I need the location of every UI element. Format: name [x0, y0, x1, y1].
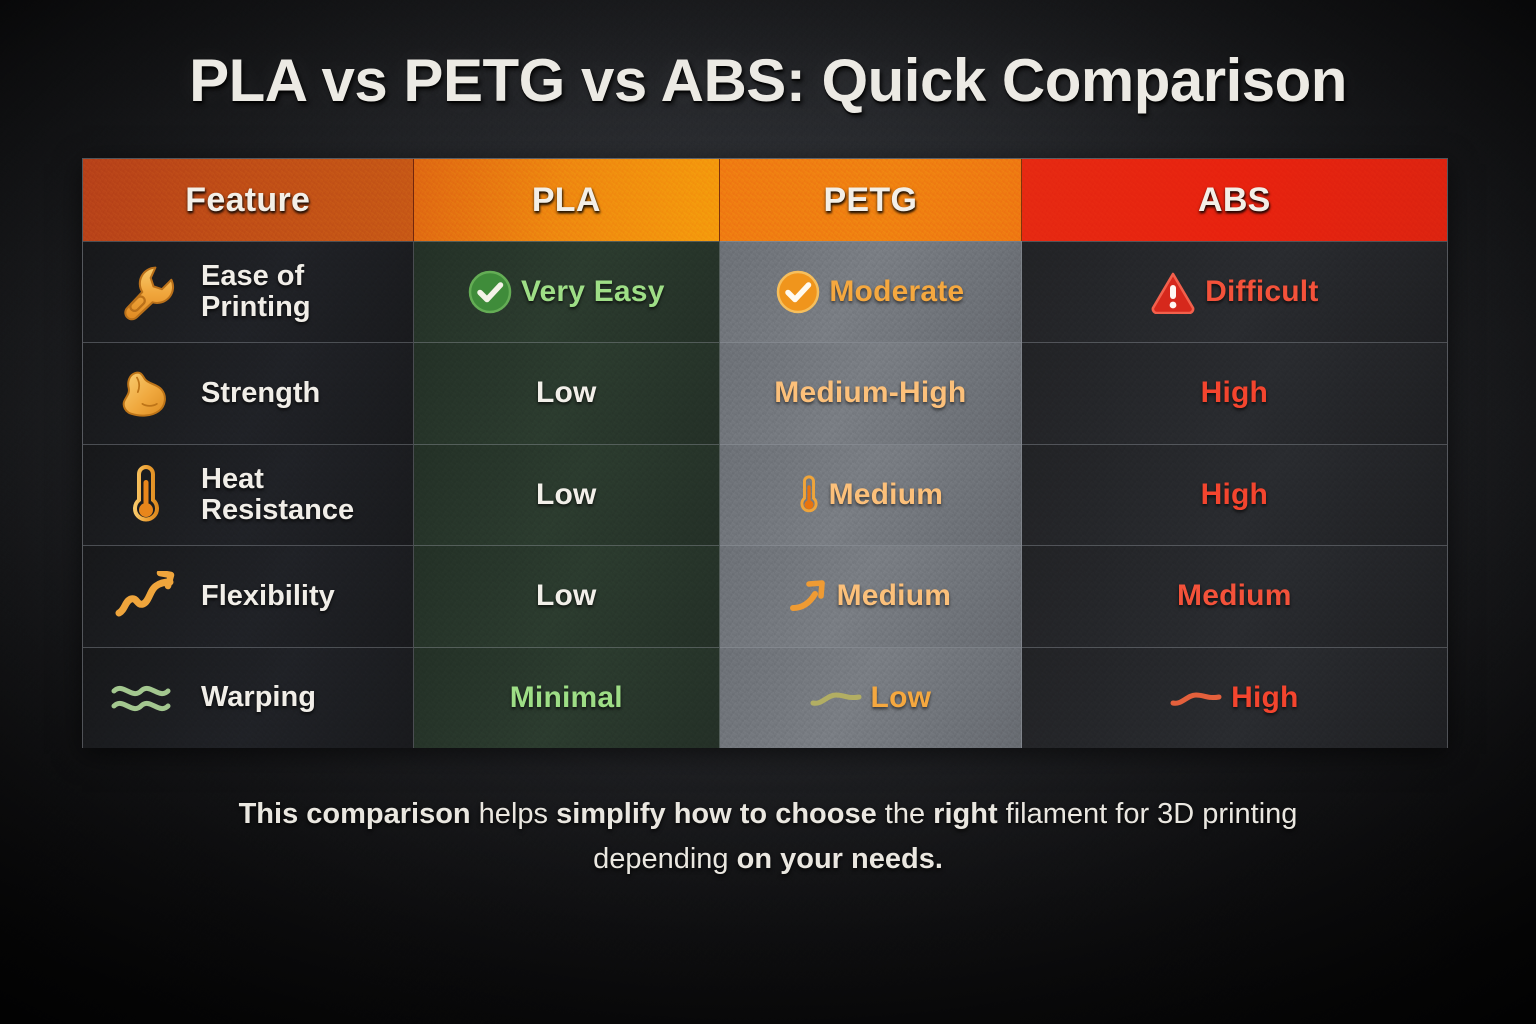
khaki-wave-icon — [810, 688, 862, 708]
table-row: Strength Low Medium-High High — [83, 342, 1447, 444]
value-cell-petg-flexibility: Medium — [720, 545, 1022, 647]
feature-label: Ease of Printing — [201, 261, 311, 324]
value-cell-pla-flexibility: Low — [414, 545, 721, 647]
orange-check-circle-icon — [776, 270, 820, 314]
table-row: Heat Resistance Low Medium — [83, 444, 1447, 546]
squiggly-arrow-icon — [109, 563, 183, 629]
red-warning-triangle-icon — [1150, 270, 1196, 314]
value-text: Difficult — [1205, 275, 1318, 309]
column-header-pla-label: PLA — [532, 181, 601, 220]
value-text: Medium-High — [774, 376, 966, 410]
column-header-feature-label: Feature — [185, 181, 310, 220]
value-cell-pla-strength: Low — [414, 342, 721, 444]
value-text: Low — [871, 681, 932, 715]
value-text: High — [1201, 478, 1268, 512]
thermometer-icon — [798, 473, 820, 517]
wrench-icon — [109, 259, 183, 325]
value-text: Low — [536, 376, 597, 410]
footer-line-2: depending on your needs. — [120, 837, 1416, 882]
feature-cell-heat-resistance: Heat Resistance — [83, 444, 414, 546]
thermometer-icon — [109, 462, 183, 528]
column-header-petg-label: PETG — [823, 181, 917, 220]
value-cell-pla-heat: Low — [414, 444, 721, 546]
value-text: Very Easy — [521, 275, 665, 309]
feature-cell-strength: Strength — [83, 342, 414, 444]
value-cell-petg-ease: Moderate — [720, 241, 1022, 342]
feature-cell-flexibility: Flexibility — [83, 545, 414, 647]
feature-cell-warping: Warping — [83, 647, 414, 749]
feature-label: Warping — [201, 682, 316, 713]
feature-cell-ease-of-printing: Ease of Printing — [83, 241, 414, 342]
column-header-abs-label: ABS — [1198, 181, 1271, 220]
table-header-row: Feature PLA PETG ABS — [83, 159, 1447, 241]
column-header-pla: PLA — [414, 159, 721, 241]
value-cell-pla-warping: Minimal — [414, 647, 721, 749]
table-row: Ease of Printing Very Easy — [83, 241, 1447, 342]
flexed-bicep-icon — [109, 360, 183, 426]
feature-label: Strength — [201, 378, 320, 409]
value-cell-abs-heat: High — [1022, 444, 1447, 546]
table-row: Warping Minimal Low — [83, 647, 1447, 749]
column-header-petg: PETG — [720, 159, 1022, 241]
value-cell-abs-flexibility: Medium — [1022, 545, 1447, 647]
value-text: High — [1201, 376, 1268, 410]
column-header-abs: ABS — [1022, 159, 1447, 241]
feature-label: Heat Resistance — [201, 464, 354, 527]
red-wave-icon — [1170, 688, 1222, 708]
value-text: Medium — [837, 579, 952, 613]
value-text: Moderate — [829, 275, 964, 309]
feature-label: Flexibility — [201, 581, 335, 612]
page-title: PLA vs PETG vs ABS: Quick Comparison — [0, 46, 1536, 115]
curved-up-arrow-icon — [790, 579, 828, 613]
comparison-table: Feature PLA PETG ABS — [82, 158, 1448, 748]
value-cell-petg-warping: Low — [720, 647, 1022, 749]
value-text: Low — [536, 478, 597, 512]
value-text: Minimal — [510, 681, 623, 715]
footer-line-1: This comparison helps simplify how to ch… — [120, 792, 1416, 837]
value-cell-abs-ease: Difficult — [1022, 241, 1447, 342]
value-text: Medium — [1177, 579, 1292, 613]
green-wavy-lines-icon — [109, 665, 183, 731]
footer-caption: This comparison helps simplify how to ch… — [120, 792, 1416, 882]
value-text: High — [1231, 681, 1298, 715]
value-cell-petg-strength: Medium-High — [720, 342, 1022, 444]
column-header-feature: Feature — [83, 159, 414, 241]
table-row: Flexibility Low Medium — [83, 545, 1447, 647]
value-text: Low — [536, 579, 597, 613]
value-cell-pla-ease: Very Easy — [414, 241, 721, 342]
value-cell-petg-heat: Medium — [720, 444, 1022, 546]
green-check-circle-icon — [468, 270, 512, 314]
value-text: Medium — [829, 478, 944, 512]
value-cell-abs-strength: High — [1022, 342, 1447, 444]
value-cell-abs-warping: High — [1022, 647, 1447, 749]
